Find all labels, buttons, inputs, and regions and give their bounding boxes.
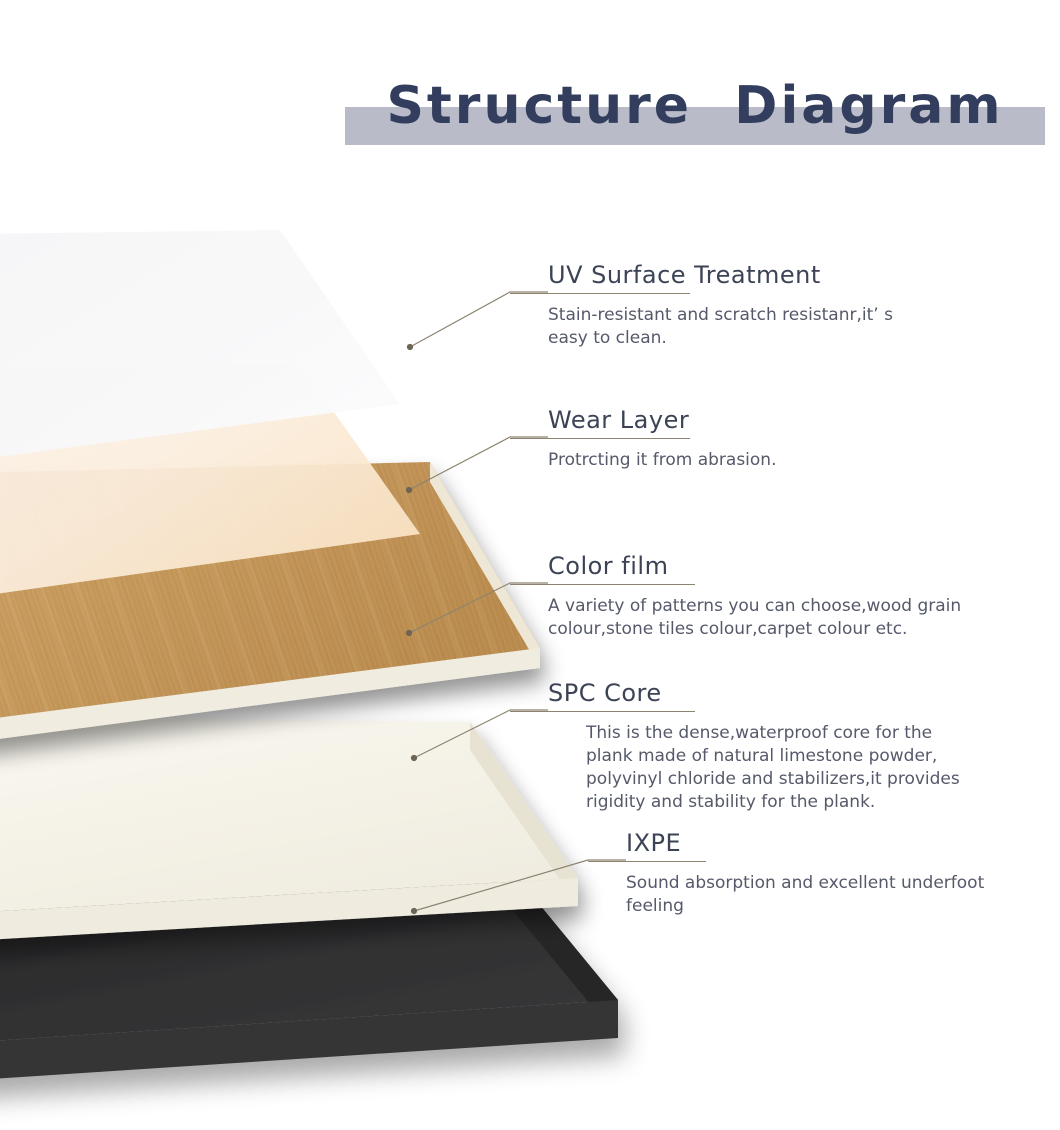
callout-rule-uv xyxy=(510,293,690,294)
page-title-block: Structure Diagram xyxy=(0,70,1060,160)
callout-rule-ixpe xyxy=(588,861,706,862)
callout-body-uv: Stain-resistant and scratch resistanr,it… xyxy=(548,304,1018,350)
page-title: Structure Diagram xyxy=(345,70,1045,142)
layer-spc-core xyxy=(0,712,578,958)
callout-rule-wear xyxy=(510,438,690,439)
callout-spc-core: SPC Core This is the dense,waterproof co… xyxy=(548,678,1053,814)
leader-dot-uv xyxy=(407,344,413,350)
leader-dot-color xyxy=(406,630,412,636)
leader-line-wear xyxy=(409,437,548,490)
leader-line-uv xyxy=(410,292,548,347)
leader-line-color xyxy=(409,583,548,633)
callout-ixpe: IXPE Sound absorption and excellent unde… xyxy=(626,828,1051,918)
leader-dot-wear xyxy=(406,487,412,493)
layer-wear xyxy=(0,364,420,640)
layer-uv-surface xyxy=(0,230,400,500)
leader-dots xyxy=(406,344,417,914)
callout-rule-spc xyxy=(510,711,695,712)
callout-body-spc: This is the dense,waterproof core for th… xyxy=(586,722,1053,814)
callout-body-ixpe: Sound absorption and excellent underfoot… xyxy=(626,872,1051,918)
callout-uv-surface-treatment: UV Surface Treatment Stain-resistant and… xyxy=(548,260,1018,350)
callout-rule-color xyxy=(510,584,695,585)
callout-heading-ixpe: IXPE xyxy=(626,828,1051,858)
callout-heading-wear: Wear Layer xyxy=(548,405,1018,435)
callout-heading-color: Color film xyxy=(548,551,1048,581)
callout-color-film: Color film A variety of patterns you can… xyxy=(548,551,1048,641)
callout-heading-spc: SPC Core xyxy=(548,678,1053,708)
layer-ixpe xyxy=(0,820,618,1100)
leader-line-ixpe xyxy=(414,860,626,911)
callout-body-wear: Protrcting it from abrasion. xyxy=(548,449,1018,472)
leader-dot-spc xyxy=(411,755,417,761)
structure-diagram-page: Structure Diagram xyxy=(0,0,1060,1130)
leader-line-spc xyxy=(414,710,548,758)
callout-heading-uv: UV Surface Treatment xyxy=(548,260,1018,290)
leader-dot-ixpe xyxy=(411,908,417,914)
callout-body-color: A variety of patterns you can choose,woo… xyxy=(548,595,1048,641)
callout-wear-layer: Wear Layer Protrcting it from abrasion. xyxy=(548,405,1018,472)
layer-color-film xyxy=(0,462,540,782)
